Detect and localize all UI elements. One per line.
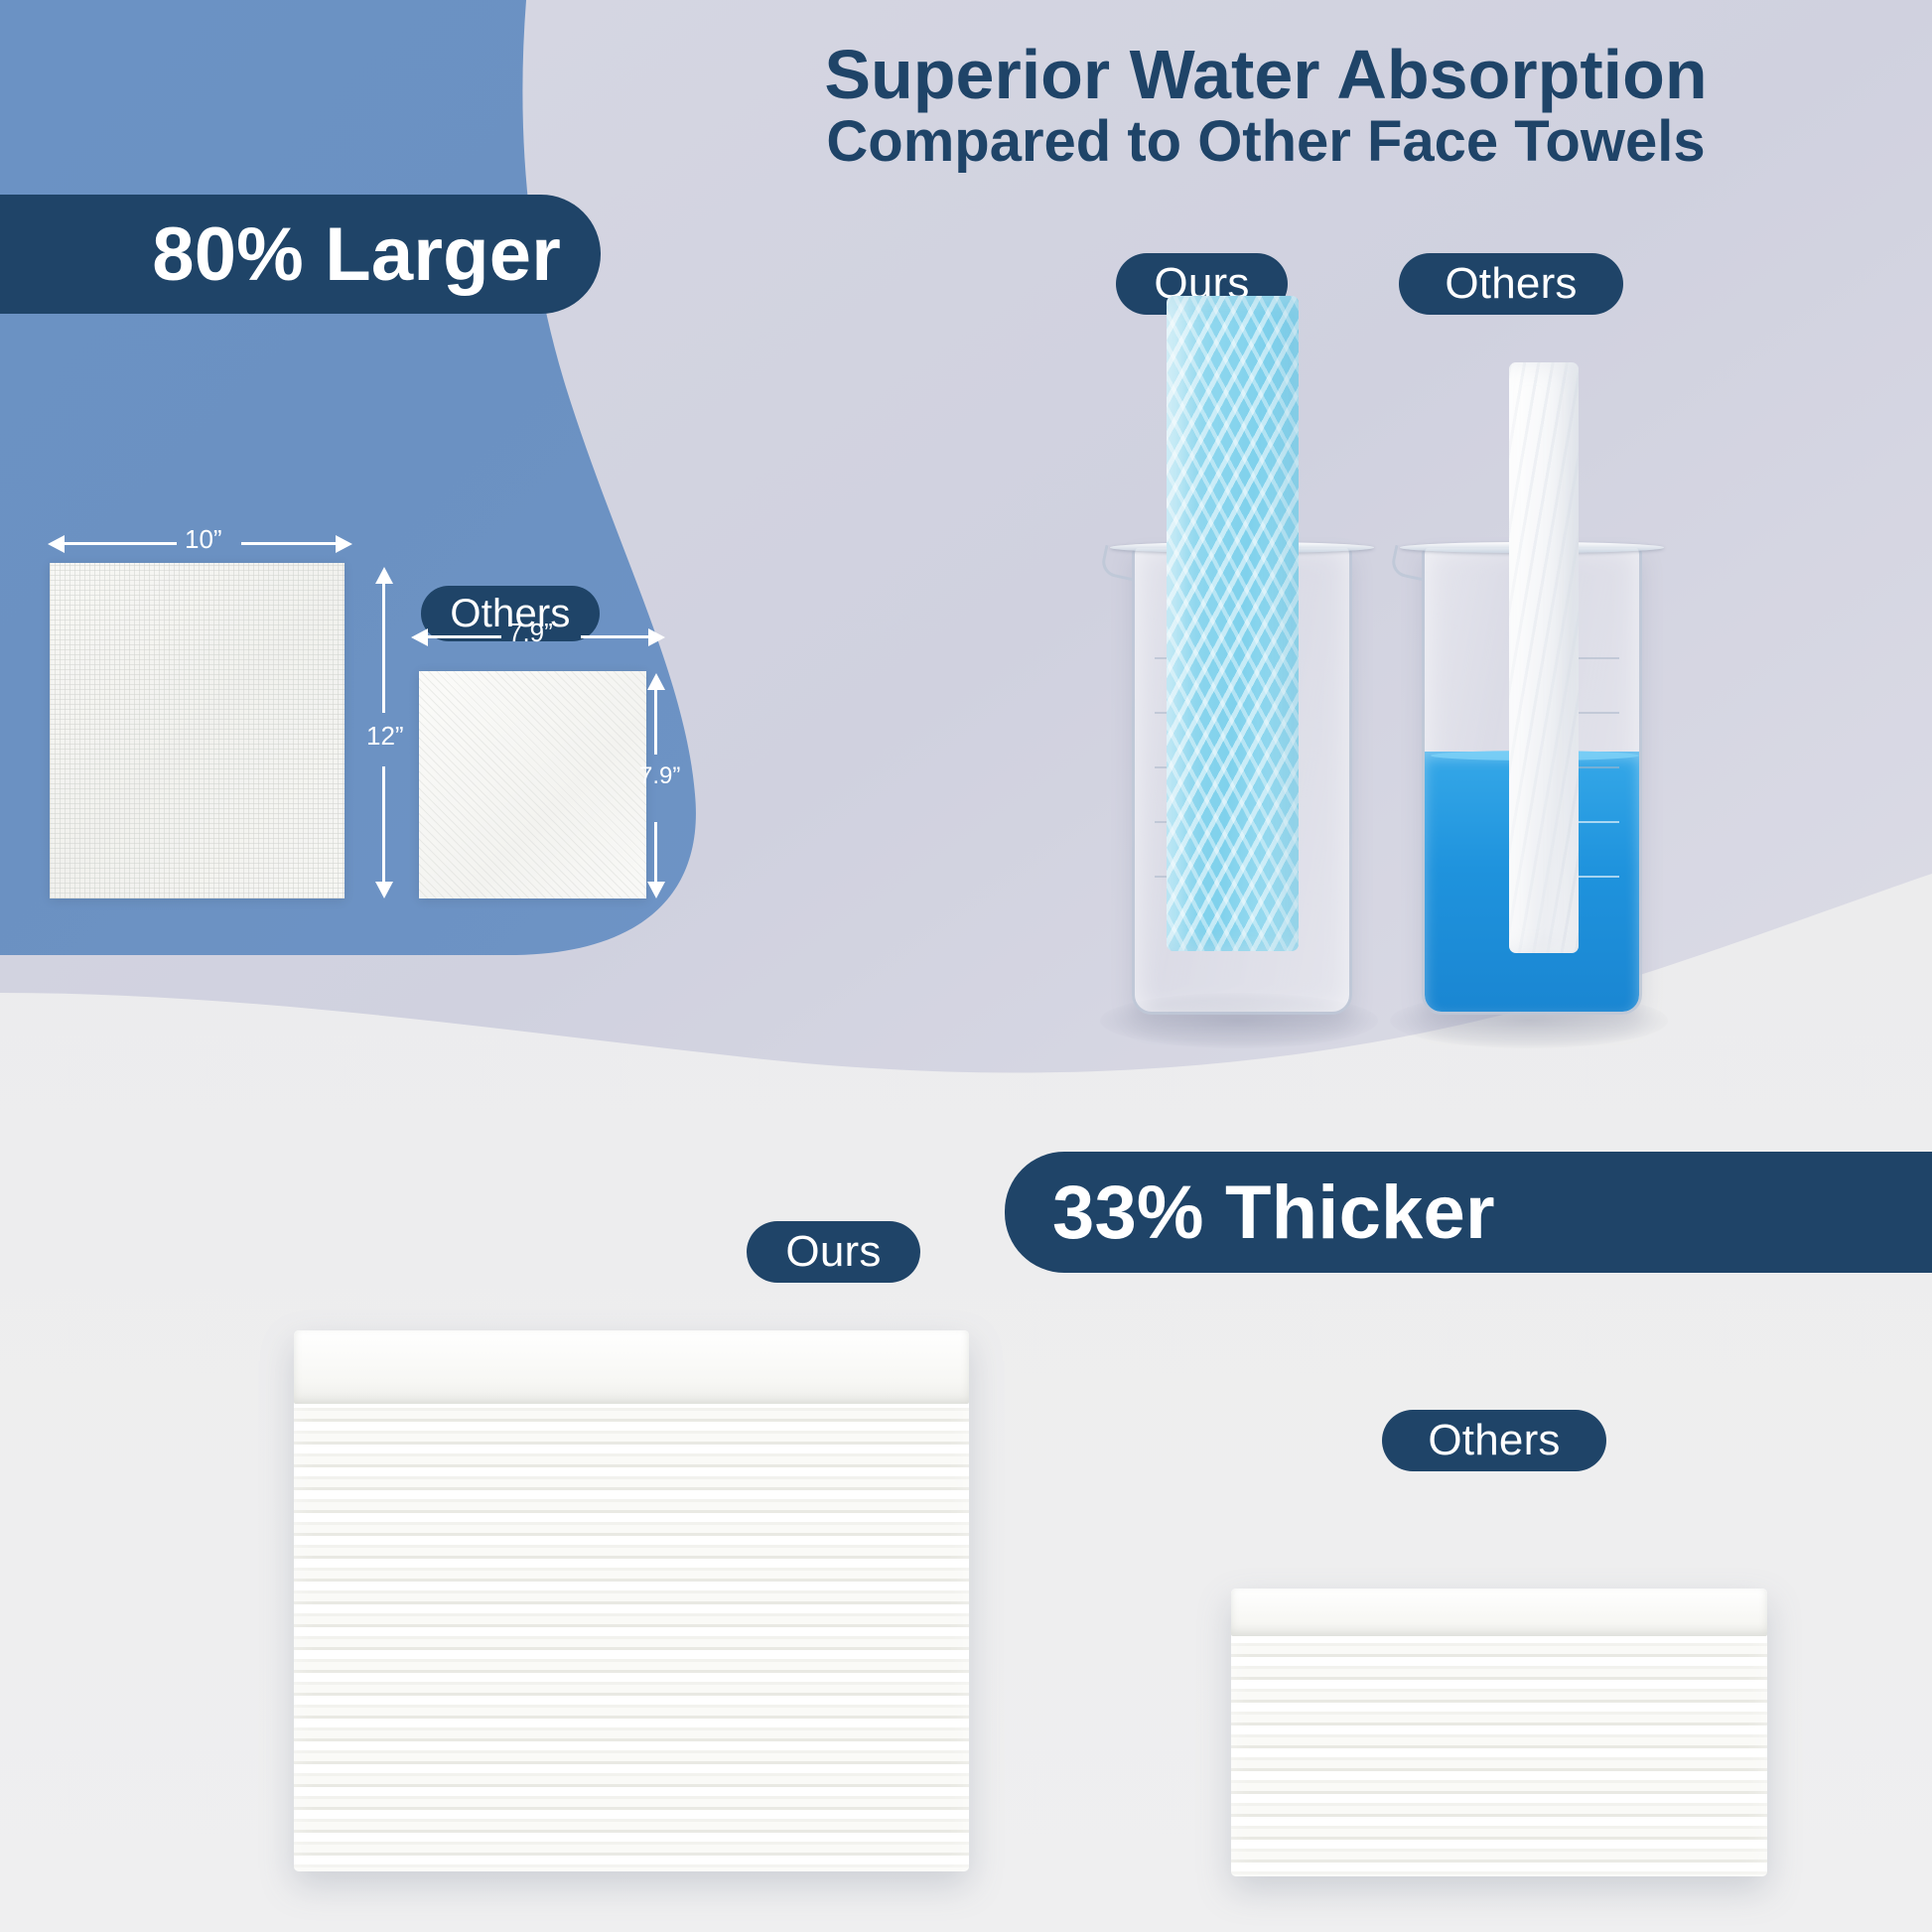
thickness-others-label: Others <box>1382 1410 1606 1471</box>
ours-height-label: 12” <box>366 721 404 752</box>
ours-height-line-bottom <box>382 766 385 884</box>
absorption-others-label: Others <box>1399 253 1623 315</box>
others-width-line-left <box>427 635 501 638</box>
others-towel-square <box>419 671 646 898</box>
ours-thickness-stack-top <box>294 1330 969 1404</box>
badge-33-percent-thicker: 33% Thicker <box>1005 1152 1932 1273</box>
others-width-arrow-left <box>411 628 428 646</box>
ours-width-label: 10” <box>185 524 222 555</box>
others-rolled-towel <box>1509 362 1579 953</box>
ours-thickness-stack <box>294 1330 969 1871</box>
infographic-canvas: Superior Water Absorption Compared to Ot… <box>0 0 1932 1932</box>
headline-line1: Superior Water Absorption <box>625 38 1906 111</box>
headline-line2: Compared to Other Face Towels <box>625 111 1906 172</box>
others-height-label: 7.9” <box>639 762 680 790</box>
others-height-line-bottom <box>654 822 657 884</box>
thickness-ours-label: Ours <box>747 1221 920 1283</box>
ours-height-line-top <box>382 582 385 713</box>
others-width-arrow-right <box>648 628 665 646</box>
ours-width-arrow-right <box>336 535 352 553</box>
others-height-arrow-down <box>647 882 665 898</box>
ours-towel-square <box>50 563 345 898</box>
others-width-label: 7.9” <box>508 618 553 648</box>
badge-80-percent-larger: 80% Larger <box>0 195 601 314</box>
ours-width-arrow-left <box>48 535 65 553</box>
others-width-line-right <box>581 635 650 638</box>
ours-width-line-right <box>241 542 337 545</box>
ours-height-arrow-down <box>375 882 393 898</box>
ours-rolled-towel <box>1167 296 1299 951</box>
ours-width-line-left <box>58 542 177 545</box>
others-thickness-stack-top <box>1231 1588 1767 1636</box>
others-height-line-top <box>654 687 657 755</box>
